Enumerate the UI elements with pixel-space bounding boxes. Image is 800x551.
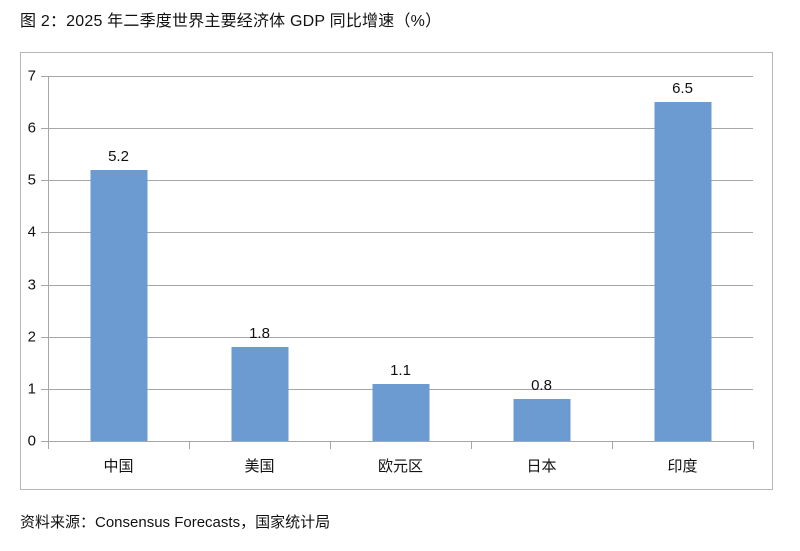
y-tick-7 xyxy=(41,76,48,77)
bar-group-中国: 5.2中国 xyxy=(48,76,189,441)
bar-value-label-中国: 5.2 xyxy=(108,148,129,165)
y-tick-2 xyxy=(41,337,48,338)
page-title: 图 2：2025 年二季度世界主要经济体 GDP 同比增速（%） xyxy=(20,11,441,33)
x-axis-label-欧元区: 欧元区 xyxy=(378,455,423,476)
y-tick-6 xyxy=(41,128,48,129)
x-tick-5 xyxy=(753,441,754,449)
y-tick-4 xyxy=(41,232,48,233)
gridline-0 xyxy=(48,441,753,442)
bar-印度[interactable] xyxy=(654,102,711,441)
bar-group-美国: 1.8美国 xyxy=(189,76,330,441)
y-axis-label-5: 5 xyxy=(28,172,36,189)
y-axis-label-6: 6 xyxy=(28,120,36,137)
bar-欧元区[interactable] xyxy=(372,384,429,441)
bar-value-label-欧元区: 1.1 xyxy=(390,362,411,379)
chart-frame: 01234567 5.2中国1.8美国1.1欧元区0.8日本6.5印度 xyxy=(20,52,773,490)
x-tick-2 xyxy=(330,441,331,449)
bar-value-label-日本: 0.8 xyxy=(531,377,552,394)
y-axis-label-2: 2 xyxy=(28,328,36,345)
y-tick-5 xyxy=(41,180,48,181)
bar-中国[interactable] xyxy=(90,170,147,441)
bar-value-label-印度: 6.5 xyxy=(672,80,693,97)
bar-value-label-美国: 1.8 xyxy=(249,325,270,342)
bar-group-欧元区: 1.1欧元区 xyxy=(330,76,471,441)
x-axis-label-美国: 美国 xyxy=(244,455,274,476)
y-tick-0 xyxy=(41,441,48,442)
bar-group-日本: 0.8日本 xyxy=(471,76,612,441)
y-axis-label-1: 1 xyxy=(28,380,36,397)
x-tick-1 xyxy=(189,441,190,449)
bar-group-印度: 6.5印度 xyxy=(612,76,753,441)
x-axis-label-日本: 日本 xyxy=(526,455,556,476)
y-axis-label-0: 0 xyxy=(28,433,36,450)
y-tick-1 xyxy=(41,389,48,390)
plot-area: 01234567 5.2中国1.8美国1.1欧元区0.8日本6.5印度 xyxy=(48,76,753,441)
figure-container: 图 2：2025 年二季度世界主要经济体 GDP 同比增速（%） 0123456… xyxy=(0,0,800,551)
x-tick-0 xyxy=(48,441,49,449)
source-note: 资料来源：Consensus Forecasts，国家统计局 xyxy=(20,513,330,533)
x-tick-3 xyxy=(471,441,472,449)
x-axis-label-中国: 中国 xyxy=(103,455,133,476)
bar-美国[interactable] xyxy=(231,347,288,441)
y-axis-label-3: 3 xyxy=(28,276,36,293)
y-tick-3 xyxy=(41,285,48,286)
bar-series: 5.2中国1.8美国1.1欧元区0.8日本6.5印度 xyxy=(48,76,753,441)
x-axis-label-印度: 印度 xyxy=(667,455,697,476)
bar-日本[interactable] xyxy=(513,399,570,441)
y-axis-label-4: 4 xyxy=(28,224,36,241)
y-axis-label-7: 7 xyxy=(28,68,36,85)
x-tick-4 xyxy=(612,441,613,449)
